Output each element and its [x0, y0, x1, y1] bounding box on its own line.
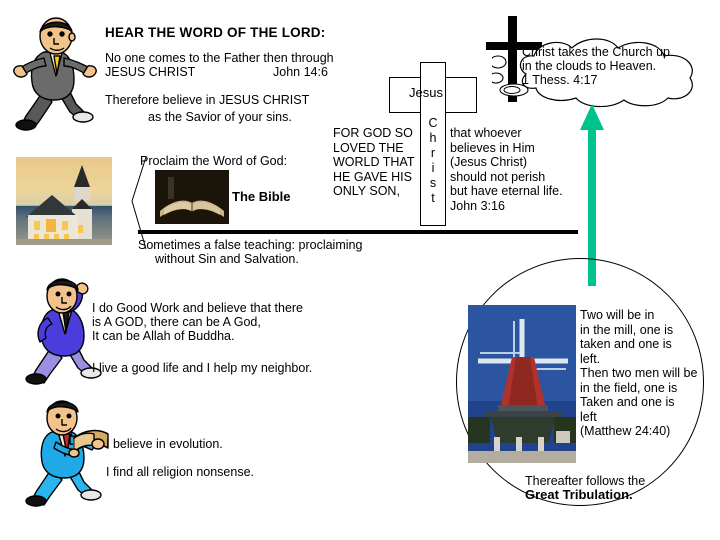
john316-right-line-5: but have eternal life.	[450, 184, 563, 199]
moralist-line-2: is A GOD, there can be A God,	[92, 315, 261, 330]
rapture-line-3: taken and one is	[580, 337, 697, 352]
bible-label: The Bible	[232, 190, 291, 205]
false-teaching-line-1: Sometimes a false teaching: proclaiming	[138, 238, 362, 253]
atheist-line-1: I believe in evolution.	[106, 437, 223, 452]
john316-right-line-4: should not perish	[450, 170, 563, 185]
john316-right-column: that whoever believes in Him (Jesus Chri…	[450, 126, 563, 213]
john316-left-line-1: FOR GOD SO	[333, 126, 414, 141]
john316-right-line-2: believes in Him	[450, 141, 563, 156]
atheist-line-2: I find all religion nonsense.	[106, 465, 254, 480]
rapture-text-block: Two will be in in the mill, one is taken…	[580, 308, 697, 439]
rapture-line-6: in the field, one is	[580, 381, 697, 396]
john316-right-reference: John 3:16	[450, 199, 563, 214]
cross-vertical-letter-t: t	[426, 191, 440, 206]
gospel-reference-1: John 14:6	[273, 65, 328, 80]
cross-vertical-letter-r: r	[426, 146, 440, 161]
church-photo	[16, 157, 112, 245]
atheist-clipart	[22, 396, 114, 510]
john316-right-line-3: (Jesus Christ)	[450, 155, 563, 170]
cross-top-label: Jesus	[409, 86, 443, 101]
windmill-photo	[468, 305, 576, 463]
cloud-line-2: in the clouds to Heaven.	[522, 59, 656, 74]
cross-vertical-letter-s: s	[426, 176, 440, 191]
john316-right-line-1: that whoever	[450, 126, 563, 141]
rapture-line-8: left	[580, 410, 697, 425]
rapture-reference: (Matthew 24:40)	[580, 424, 697, 439]
cloud-line-3: 1 Thess. 4:17	[522, 73, 598, 88]
gospel-line-1: No one comes to the Father then through	[105, 51, 334, 66]
john316-left-line-4: HE GAVE HIS	[333, 170, 414, 185]
moralist-line-3: It can be Allah of Buddha.	[92, 329, 234, 344]
moralist-line-4: I live a good life and I help my neighbo…	[92, 361, 312, 376]
cross-vertical-label: C h r i s t	[426, 116, 440, 206]
rapture-line-7: Taken and one is	[580, 395, 697, 410]
rapture-line-1: Two will be in	[580, 308, 697, 323]
cross-vertical-letter-c: C	[426, 116, 440, 131]
bible-photo	[155, 170, 229, 224]
cross-vertical-letter-h: h	[426, 131, 440, 146]
john316-left-column: FOR GOD SO LOVED THE WORLD THAT HE GAVE …	[333, 126, 414, 199]
gospel-line-4: as the Savior of your sins.	[148, 110, 292, 125]
rapture-line-5: Then two men will be	[580, 366, 697, 381]
proclaim-label: Proclaim the Word of God:	[140, 154, 287, 169]
john316-left-line-3: WORLD THAT	[333, 155, 414, 170]
section-divider	[138, 230, 578, 234]
gospel-line-3: Therefore believe in JESUS CHRIST	[105, 93, 309, 108]
rapture-line-4: left.	[580, 352, 697, 367]
moralist-line-1: I do Good Work and believe that there	[92, 301, 303, 316]
john316-left-line-5: ONLY SON,	[333, 184, 414, 199]
tribulation-line-2: Great Tribulation.	[525, 488, 633, 503]
preacher-clipart	[10, 16, 102, 134]
cloud-line-1: Christ takes the Church up	[522, 45, 670, 60]
rapture-line-2: in the mill, one is	[580, 323, 697, 338]
gospel-diagram-canvas: HEAR THE WORD OF THE LORD: No one comes …	[0, 0, 720, 540]
john316-left-line-2: LOVED THE	[333, 141, 414, 156]
page-title: HEAR THE WORD OF THE LORD:	[105, 26, 325, 41]
gospel-line-2: JESUS CHRIST	[105, 65, 195, 80]
false-teaching-line-2: without Sin and Salvation.	[155, 252, 299, 267]
cross-vertical-letter-i: i	[426, 161, 440, 176]
